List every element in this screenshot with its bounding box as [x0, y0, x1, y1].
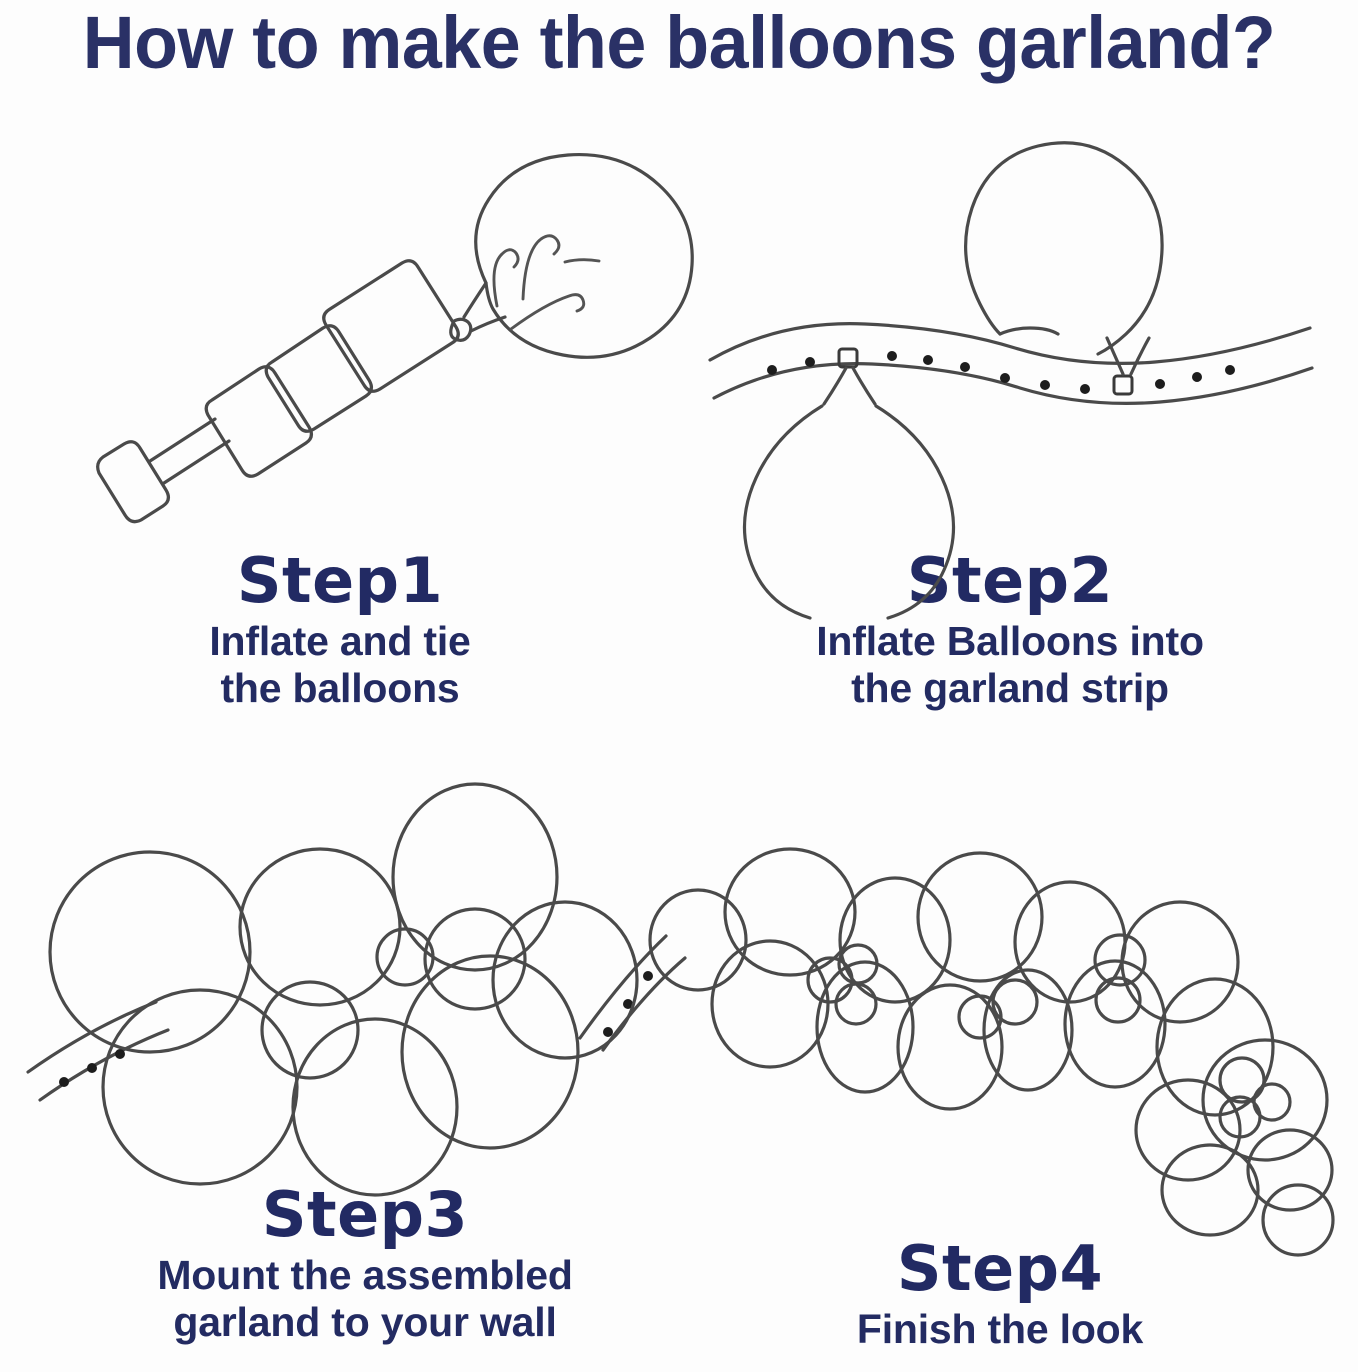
- step-card-2: Step2 Inflate Balloons into the garland …: [700, 112, 1320, 712]
- step-4-heading: Step4: [650, 1236, 1350, 1302]
- small-filler-balloons: [262, 909, 525, 1078]
- step-card-3: Step3 Mount the assembled garland to you…: [20, 752, 710, 1346]
- balloon-body: [476, 155, 693, 358]
- step-2-caption: Step2 Inflate Balloons into the garland …: [700, 548, 1320, 712]
- step-4-illustration: [650, 812, 1350, 1230]
- page-title: How to make the balloons garland?: [20, 2, 1337, 84]
- descending-right-tail: [1136, 1040, 1333, 1255]
- step-1-caption: Step1 Inflate and tie the balloons: [40, 548, 640, 712]
- balloon-knot-strings: [824, 338, 1149, 404]
- step-4-description: Finish the look: [650, 1306, 1350, 1353]
- step-2-description: Inflate Balloons into the garland strip: [700, 618, 1320, 712]
- hand-pump-barrel: [324, 261, 459, 392]
- strip-perforation-holes: [767, 351, 1235, 394]
- arch-bottom-row-balloons: [712, 941, 1273, 1115]
- arch-top-row-balloons: [650, 849, 1238, 1022]
- hand-pump-segment-mid: [266, 326, 371, 432]
- air-flow-squiggles: [494, 236, 599, 329]
- balloon-above-strip: [966, 143, 1163, 354]
- step-2-illustration: [700, 112, 1320, 542]
- step-1-description: Inflate and tie the balloons: [40, 618, 640, 712]
- garland-strip-wavy-band: [710, 324, 1312, 404]
- step-3-caption: Step3 Mount the assembled garland to you…: [20, 1182, 710, 1346]
- step-3-description: Mount the assembled garland to your wall: [20, 1252, 710, 1346]
- step-2-heading: Step2: [700, 548, 1320, 614]
- step-4-caption: Step4 Finish the look: [650, 1236, 1350, 1353]
- hand-pump-handle: [98, 442, 169, 522]
- step-card-1: Step1 Inflate and tie the balloons: [40, 112, 640, 712]
- step-card-4: Step4 Finish the look: [650, 812, 1350, 1353]
- step-3-illustration: [20, 752, 710, 1182]
- step-1-illustration: [40, 112, 640, 542]
- large-balloons: [50, 784, 637, 1195]
- step-3-heading: Step3: [20, 1182, 710, 1248]
- step-1-heading: Step1: [40, 548, 640, 614]
